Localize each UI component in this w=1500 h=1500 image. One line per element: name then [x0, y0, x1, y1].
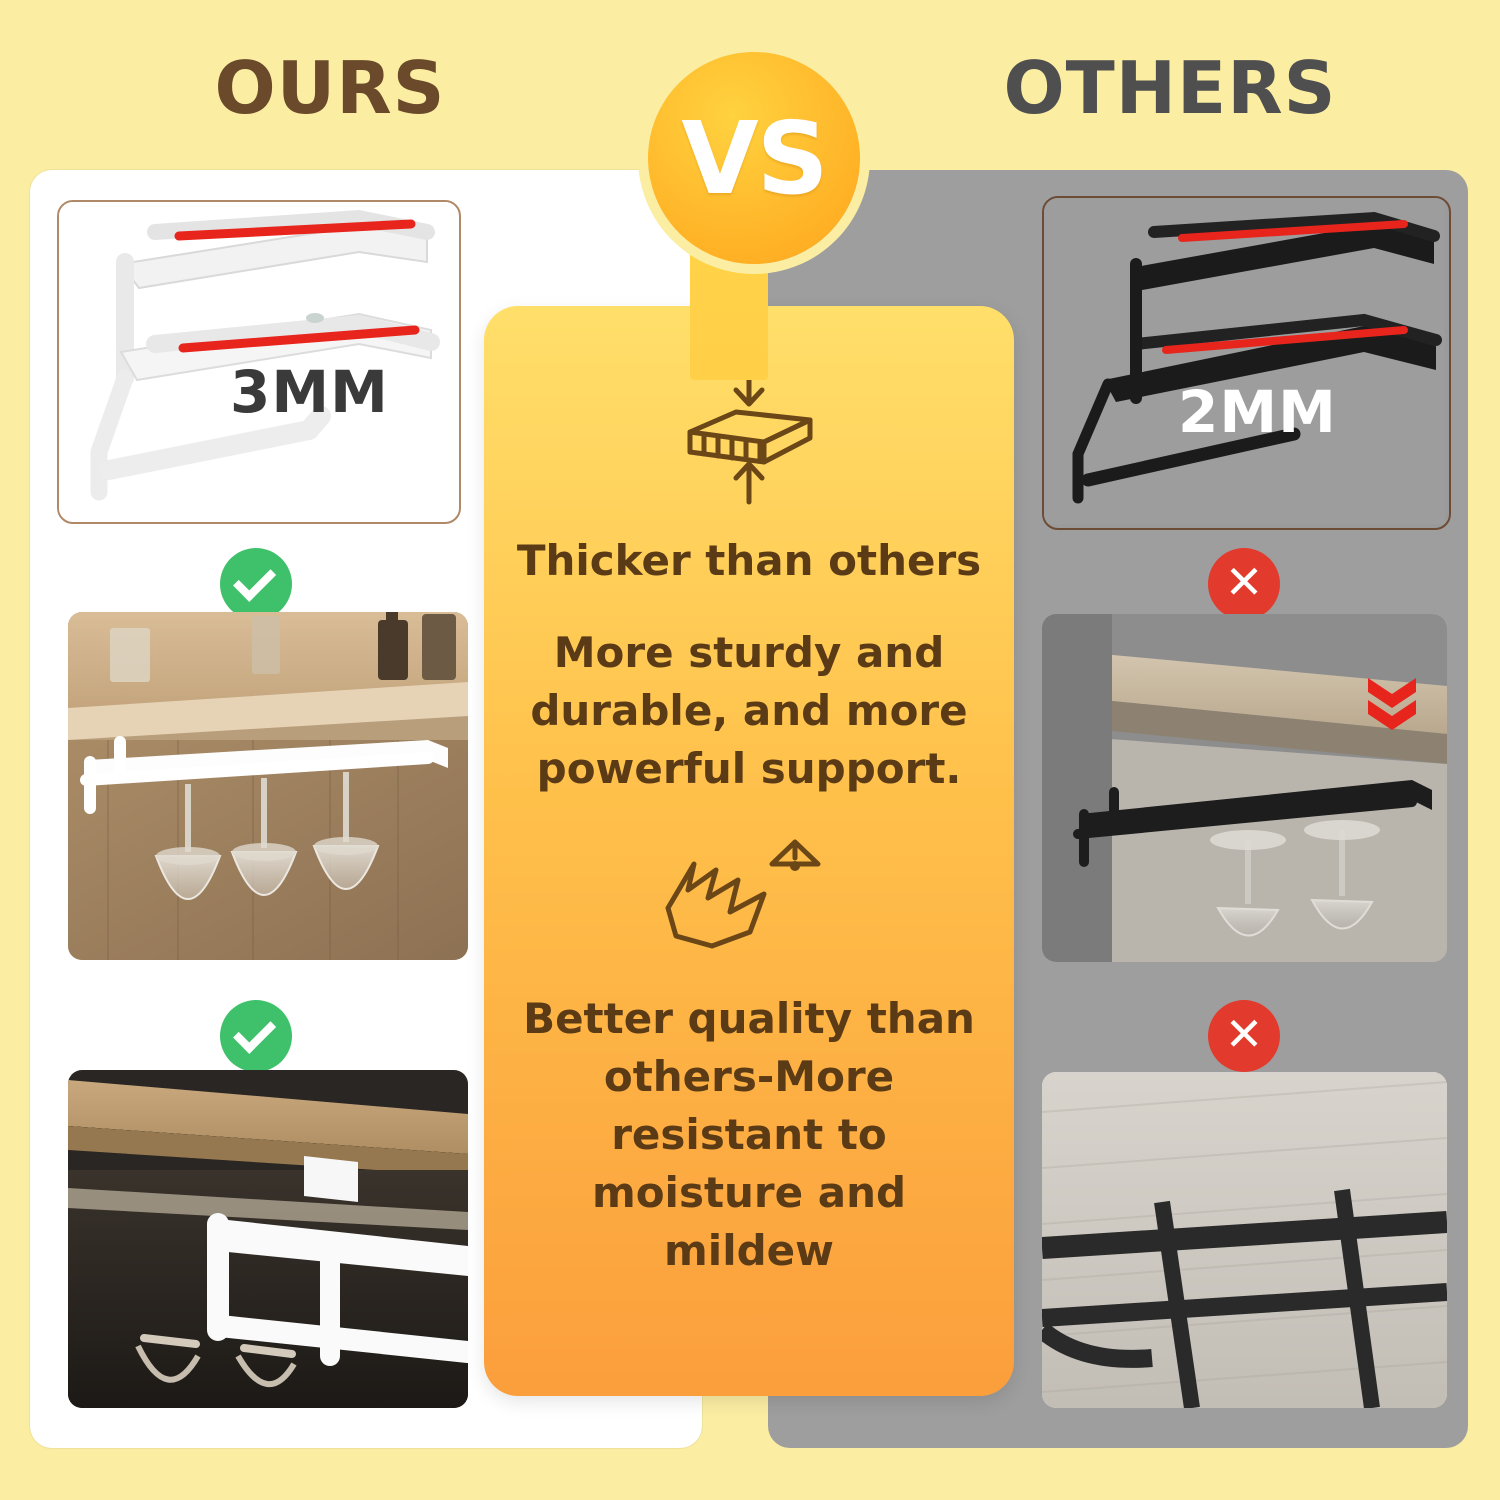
- ours-check-icon-1: [220, 548, 292, 620]
- thickness-arrows-icon: [664, 358, 834, 508]
- heading-others: OTHERS: [840, 52, 1500, 124]
- others-cross-icon-2: ✕: [1208, 1000, 1280, 1072]
- sagging-warning-arrows-icon: [1362, 672, 1422, 742]
- center-text-quality: Better quality than others-More resistan…: [514, 990, 984, 1280]
- center-text-sturdy: More sturdy and durable, and more powerf…: [514, 624, 984, 798]
- center-feature-card: Thicker than others More sturdy and dura…: [484, 306, 1014, 1396]
- vs-badge: VS: [648, 52, 860, 264]
- others-thickness-label: 2MM: [1178, 378, 1337, 446]
- ours-installed-photo: [68, 612, 468, 960]
- ours-check-icon-2: [220, 1000, 292, 1072]
- cross-glyph: ✕: [1225, 559, 1264, 605]
- ours-under-counter-photo: [68, 1070, 468, 1408]
- others-installed-photo: [1042, 614, 1447, 962]
- cross-glyph: ✕: [1225, 1011, 1264, 1057]
- vs-label: VS: [681, 100, 826, 217]
- others-rack-closeup-photo: [1042, 196, 1451, 530]
- ours-thickness-label: 3MM: [230, 358, 389, 426]
- others-rusted-photo: [1042, 1072, 1447, 1408]
- center-text-thicker: Thicker than others: [514, 532, 984, 590]
- others-cross-icon-1: ✕: [1208, 548, 1280, 620]
- moisture-warning-icon: [654, 820, 844, 960]
- heading-ours: OURS: [0, 52, 660, 124]
